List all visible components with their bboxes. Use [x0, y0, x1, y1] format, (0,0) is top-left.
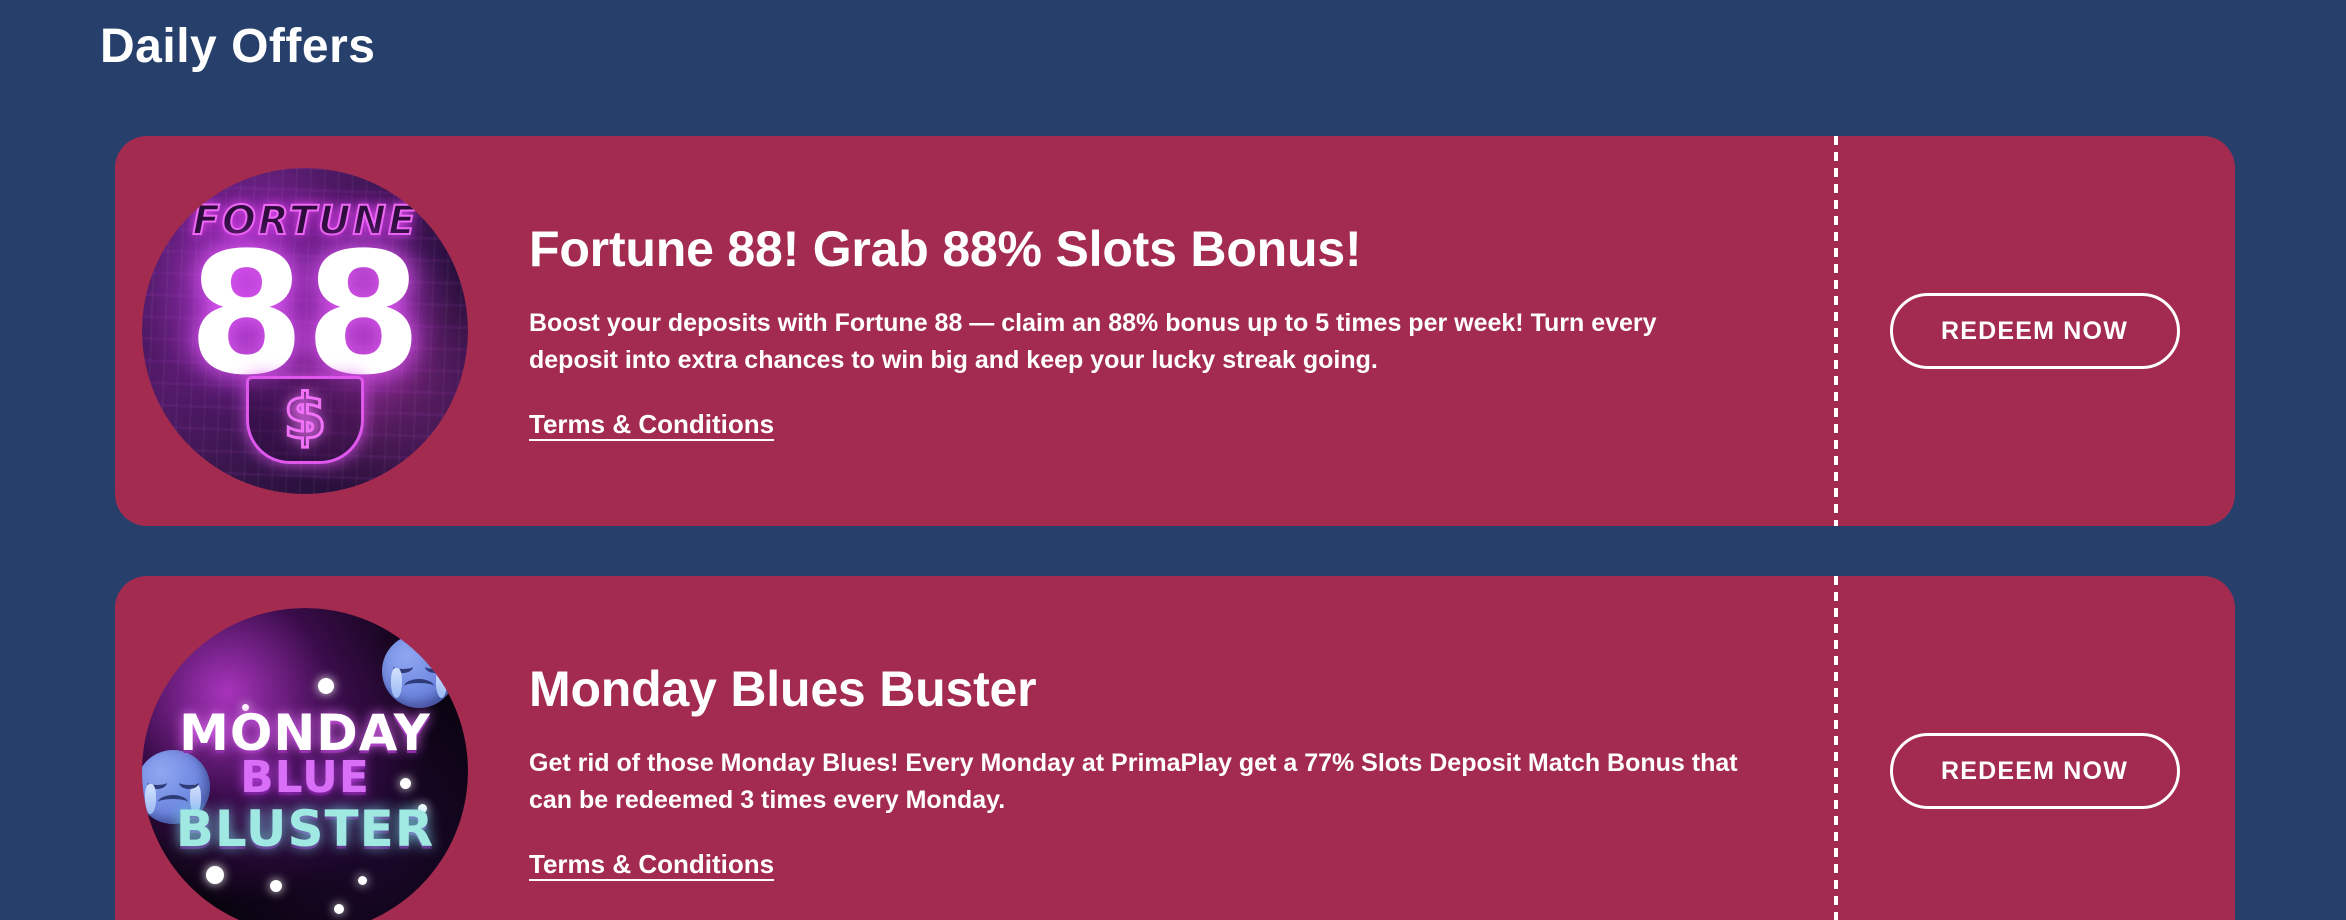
- offer-card-fortune-88[interactable]: FORTUNE 88 $ Fortune 88! Grab 88% Slots …: [115, 136, 2235, 526]
- offer-thumbnail: FORTUNE 88 $: [142, 168, 468, 494]
- offer-action-area: REDEEM NOW: [1834, 576, 2235, 920]
- crying-face-icon: [382, 634, 456, 708]
- fortune-88-artwork: FORTUNE 88 $: [142, 168, 468, 494]
- offer-description: Get rid of those Monday Blues! Every Mon…: [529, 745, 1744, 819]
- offer-card-monday-blues-buster[interactable]: MONDAY BLUE BLUSTER Monday Blues Buster …: [115, 576, 2235, 920]
- offer-action-area: REDEEM NOW: [1834, 136, 2235, 526]
- artwork-blue-text: BLUE: [142, 756, 468, 800]
- offer-thumbnail: MONDAY BLUE BLUSTER: [142, 608, 468, 920]
- artwork-bluster-text: BLUSTER: [142, 804, 468, 854]
- monday-blues-artwork: MONDAY BLUE BLUSTER: [142, 608, 468, 920]
- redeem-now-button[interactable]: REDEEM NOW: [1890, 733, 2180, 809]
- artwork-88-text: 88: [142, 230, 468, 398]
- offer-description: Boost your deposits with Fortune 88 — cl…: [529, 305, 1744, 379]
- daily-offers-page: Daily Offers FORTUNE 88 $ Fortune 88! Gr…: [0, 0, 2346, 920]
- redeem-now-button[interactable]: REDEEM NOW: [1890, 293, 2180, 369]
- artwork-monday-text: MONDAY: [142, 708, 468, 758]
- terms-and-conditions-link[interactable]: Terms & Conditions: [529, 849, 774, 880]
- offer-card-content: FORTUNE 88 $ Fortune 88! Grab 88% Slots …: [115, 136, 2235, 526]
- page-title: Daily Offers: [100, 18, 375, 76]
- offer-card-content: MONDAY BLUE BLUSTER Monday Blues Buster …: [115, 576, 2235, 920]
- offers-list: FORTUNE 88 $ Fortune 88! Grab 88% Slots …: [115, 136, 2235, 920]
- terms-and-conditions-link[interactable]: Terms & Conditions: [529, 409, 774, 440]
- dollar-sign-icon: $: [283, 380, 326, 453]
